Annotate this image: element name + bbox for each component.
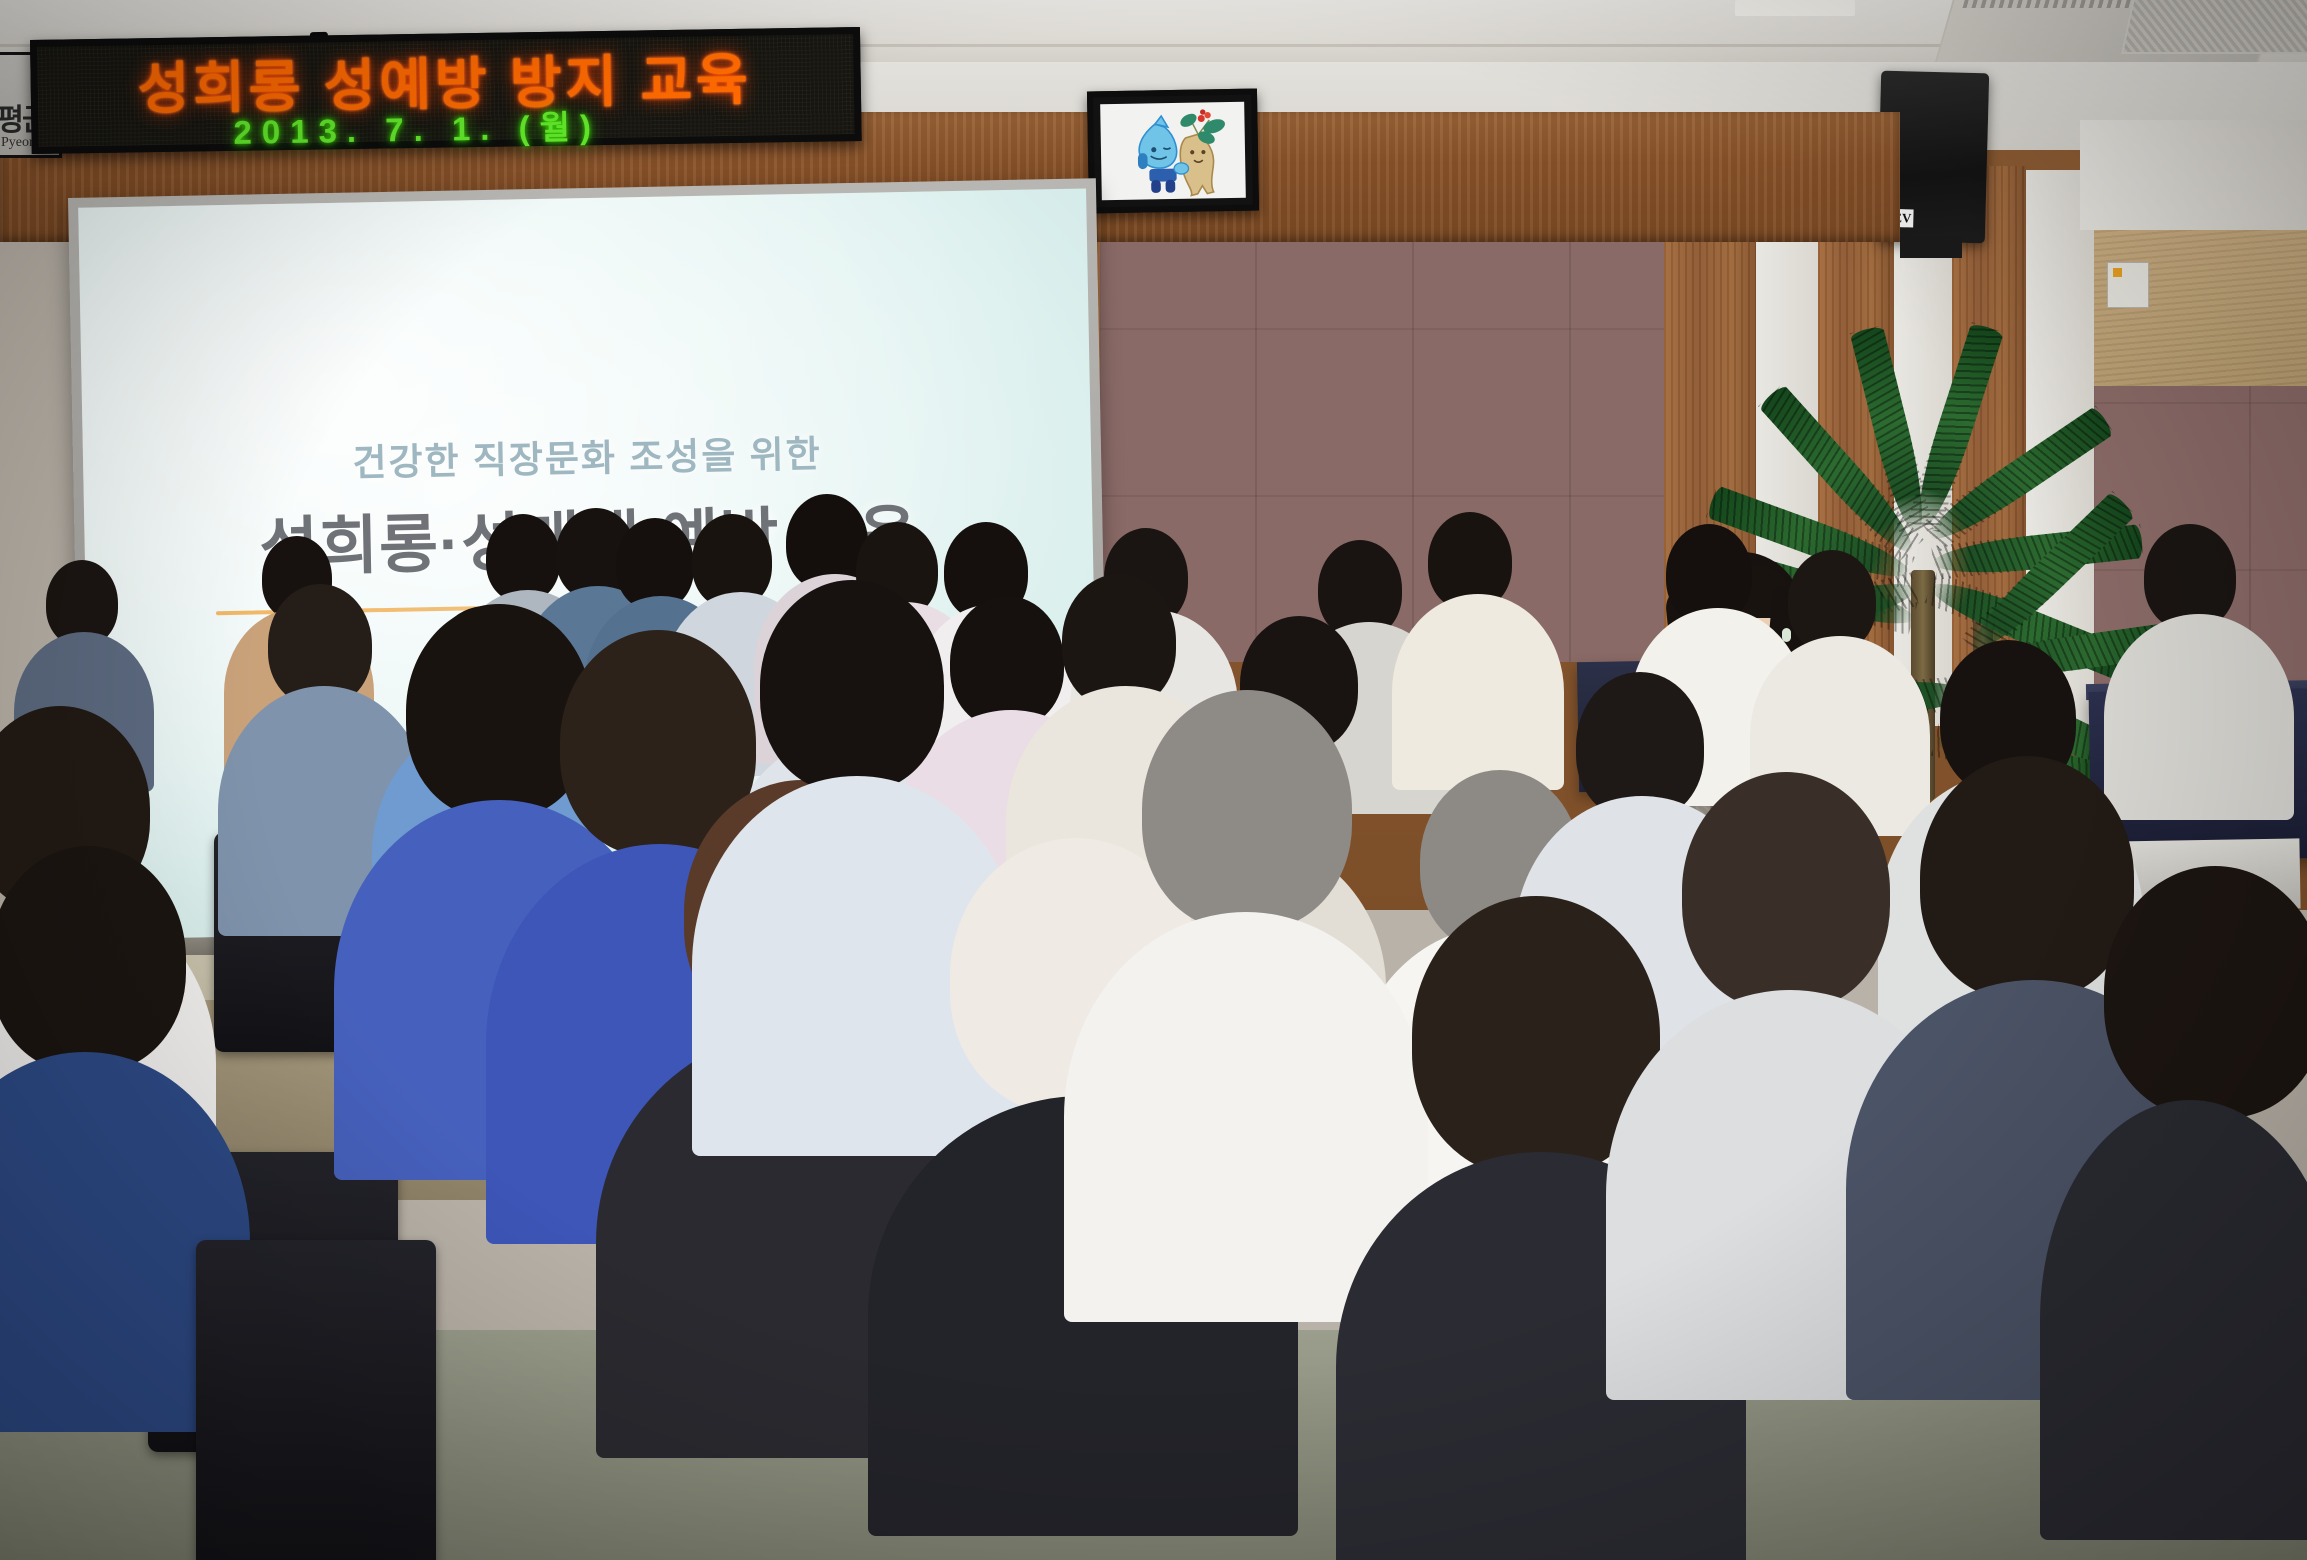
mascot-display-panel	[1087, 89, 1259, 214]
wall-control-box[interactable]	[2107, 262, 2149, 308]
chair	[196, 1240, 436, 1560]
attendee-head	[0, 846, 186, 1072]
attendee-head	[1920, 756, 2134, 1000]
attendee-head	[486, 514, 560, 602]
attendee-head	[1142, 690, 1352, 930]
upper-white-wall	[2080, 120, 2307, 230]
led-banner: 성희롱 성예방 방지 교육 2013. 7. 1. (월)	[30, 27, 862, 154]
attendee-body	[2104, 614, 2294, 820]
speaker-bracket	[1900, 236, 1962, 258]
ceiling-light	[1735, 0, 1855, 16]
attendee-head	[2104, 866, 2307, 1118]
mascot-image	[1100, 102, 1246, 200]
attendee-body plaid	[1392, 594, 1564, 790]
ceiling-air-vent-secondary	[2121, 0, 2307, 54]
audience-area	[0, 680, 2307, 1560]
attendee-head	[760, 580, 944, 792]
mascot-illustration-icon	[1100, 102, 1246, 200]
attendee-head	[950, 596, 1064, 728]
auditorium-scene: EV 평군 Pyeong 성희롱 성예방 방지 교육 2013. 7. 1. (…	[0, 0, 2307, 1560]
attendee-head	[1682, 772, 1890, 1010]
